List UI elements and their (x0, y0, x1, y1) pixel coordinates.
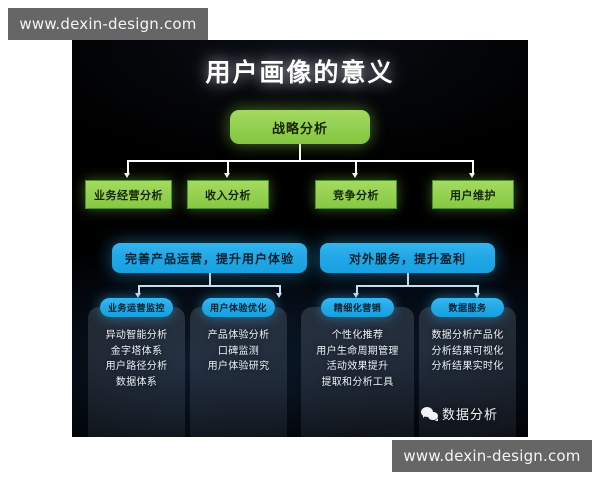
node-competition-analysis[interactable]: 竞争分析 (315, 180, 397, 209)
watermark-bottom: www.dexin-design.com (392, 440, 592, 472)
connector-drop-2 (227, 160, 229, 174)
wechat-badge: 数据分析 (421, 404, 498, 423)
list-item: 金字塔体系 (88, 344, 185, 360)
node-business-operation-analysis[interactable]: 业务经营分析 (85, 180, 172, 209)
list-business-operation-monitoring: 异动智能分析 金字塔体系 用户路径分析 数据体系 (88, 328, 185, 390)
watermark-top: www.dexin-design.com (8, 8, 208, 40)
node-strategy-analysis[interactable]: 战略分析 (230, 110, 370, 144)
list-item: 个性化推荐 (301, 328, 414, 344)
tag-data-service[interactable]: 数据服务 (431, 298, 504, 317)
connector-drop-4 (472, 160, 474, 174)
list-refined-marketing: 个性化推荐 用户生命周期管理 活动效果提升 提取和分析工具 (301, 328, 414, 390)
list-item: 用户生命周期管理 (301, 344, 414, 360)
list-item: 分析结果可视化 (419, 344, 516, 360)
list-item: 用户体验研究 (190, 359, 287, 375)
list-item: 分析结果实时化 (419, 359, 516, 375)
list-item: 数据分析产品化 (419, 328, 516, 344)
list-item: 活动效果提升 (301, 359, 414, 375)
tag-refined-marketing[interactable]: 精细化营销 (321, 298, 394, 317)
connector-root-stem (299, 144, 301, 160)
connector-root-bus (127, 160, 472, 162)
connector-banner1-bus (138, 285, 280, 287)
connector-banner2-bus (356, 285, 478, 287)
arrow-head-2 (224, 173, 230, 178)
node-user-retention[interactable]: 用户维护 (432, 180, 514, 209)
arrow-head-col-2 (276, 293, 282, 298)
wechat-icon (421, 407, 438, 421)
connector-drop-3 (355, 160, 357, 174)
list-item: 口碑监测 (190, 344, 287, 360)
list-item: 用户路径分析 (88, 359, 185, 375)
arrow-head-4 (469, 173, 475, 178)
slide-canvas: 用户画像的意义 战略分析 业务经营分析 收入分析 竞争分析 用户维护 完善产品运… (72, 40, 528, 437)
wechat-badge-label: 数据分析 (442, 404, 498, 423)
connector-banner2-stem (407, 273, 409, 285)
tag-user-experience-optimization[interactable]: 用户体验优化 (202, 298, 275, 317)
banner-external-service-profit[interactable]: 对外服务，提升盈利 (320, 243, 495, 273)
node-revenue-analysis[interactable]: 收入分析 (187, 180, 269, 209)
connector-banner1-stem (209, 273, 211, 285)
page-title: 用户画像的意义 (72, 53, 528, 89)
banner-improve-product-operations[interactable]: 完善产品运营，提升用户体验 (112, 243, 307, 273)
arrow-head-1 (124, 173, 130, 178)
tag-business-operation-monitoring[interactable]: 业务运营监控 (100, 298, 173, 317)
list-user-experience-optimization: 产品体验分析 口碑监测 用户体验研究 (190, 328, 287, 375)
list-item: 异动智能分析 (88, 328, 185, 344)
list-item: 产品体验分析 (190, 328, 287, 344)
connector-drop-1 (127, 160, 129, 174)
list-item: 数据体系 (88, 375, 185, 391)
list-item: 提取和分析工具 (301, 375, 414, 391)
list-data-service: 数据分析产品化 分析结果可视化 分析结果实时化 (419, 328, 516, 375)
arrow-head-3 (352, 173, 358, 178)
